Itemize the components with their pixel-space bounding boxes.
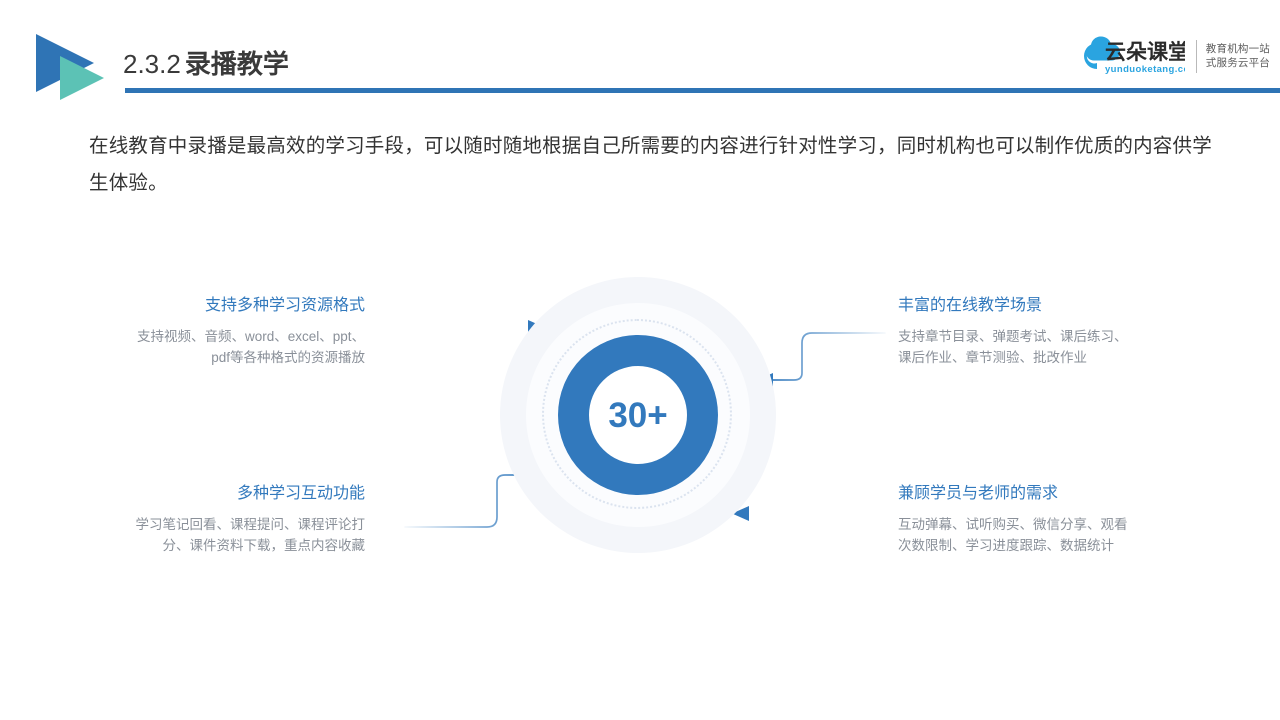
center-value: 30+ (608, 398, 667, 433)
page-header: 2.3.2录播教学 云朵课堂 yunduoketang.com 教育机构一站 式… (0, 0, 1280, 110)
play-triangles-logo (26, 30, 118, 102)
callout-bottom-right-title: 兼顾学员与老师的需求 (898, 483, 1238, 505)
center-diagram: 30+ 支持多种学习资源格式 支持视频、音频、word、excel、ppt、 p… (0, 255, 1280, 595)
brand-tagline: 教育机构一站 式服务云平台 (1206, 42, 1270, 70)
callout-bottom-left-title: 多种学习互动功能 (35, 483, 365, 505)
concentric-rings: 30+ (500, 277, 776, 553)
callout-bottom-right: 兼顾学员与老师的需求 互动弹幕、试听购买、微信分享、观看 次数限制、学习进度跟踪… (898, 483, 1238, 556)
brand-tagline-line1: 教育机构一站 (1206, 42, 1270, 56)
cloud-icon: 云朵课堂 yunduoketang.com (1067, 34, 1185, 78)
brand-url: yunduoketang.com (1105, 64, 1185, 75)
callout-top-right-title: 丰富的在线教学场景 (898, 295, 1238, 317)
callout-top-left: 支持多种学习资源格式 支持视频、音频、word、excel、ppt、 pdf等各… (35, 295, 365, 368)
brand-divider (1196, 40, 1197, 73)
callout-top-right: 丰富的在线教学场景 支持章节目录、弹题考试、课后练习、 课后作业、章节测验、批改… (898, 295, 1238, 368)
section-name: 录播教学 (185, 49, 289, 79)
brand-logo: 云朵课堂 yunduoketang.com 教育机构一站 式服务云平台 (1067, 33, 1270, 79)
page-title: 2.3.2录播教学 (123, 48, 289, 80)
callout-top-left-title: 支持多种学习资源格式 (35, 295, 365, 317)
callout-bottom-left: 多种学习互动功能 学习笔记回看、课程提问、课程评论打 分、课件资料下载，重点内容… (35, 483, 365, 556)
brand-tagline-line2: 式服务云平台 (1206, 56, 1270, 70)
brand-name-cn: 云朵课堂 (1105, 40, 1185, 64)
callout-bottom-left-body: 学习笔记回看、课程提问、课程评论打 分、课件资料下载，重点内容收藏 (35, 514, 365, 556)
ring-core: 30+ (589, 366, 687, 464)
section-number: 2.3.2 (123, 49, 181, 79)
ring-accent: 30+ (558, 335, 718, 495)
lead-paragraph: 在线教育中录播是最高效的学习手段，可以随时随地根据自己所需要的内容进行针对性学习… (89, 128, 1219, 202)
callout-top-right-body: 支持章节目录、弹题考试、课后练习、 课后作业、章节测验、批改作业 (898, 326, 1238, 368)
callout-bottom-right-body: 互动弹幕、试听购买、微信分享、观看 次数限制、学习进度跟踪、数据统计 (898, 514, 1238, 556)
title-underline-rule (125, 88, 1280, 93)
callout-top-left-body: 支持视频、音频、word、excel、ppt、 pdf等各种格式的资源播放 (35, 326, 365, 368)
